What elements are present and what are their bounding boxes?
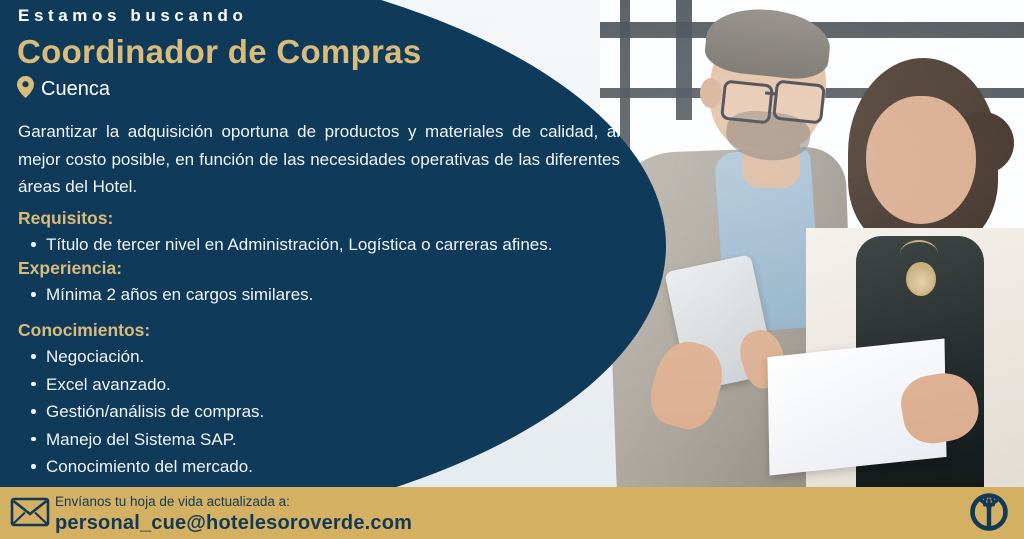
list-item: Negociación.: [44, 343, 618, 371]
kicker-text: Estamos buscando: [18, 6, 247, 26]
page-title: Coordinador de Compras: [17, 33, 421, 71]
contact-cta: Envíanos tu hoja de vida actualizada a:: [55, 493, 412, 511]
section-heading: Requisitos:: [18, 208, 618, 229]
job-posting-poster: Estamos buscando Coordinador de Compras …: [0, 0, 1024, 539]
experiencia-list: Mínima 2 años en cargos similares.: [18, 281, 618, 309]
conocimientos-list: Negociación. Excel avanzado. Gestión/aná…: [18, 343, 618, 481]
tree-emblem-logo: [966, 491, 1012, 539]
list-item: Manejo del Sistema SAP.: [44, 426, 618, 454]
location-row: Cuenca: [17, 76, 110, 103]
contact-email[interactable]: personal_cue@hotelesoroverde.com: [55, 511, 412, 536]
location-label: Cuenca: [41, 78, 110, 101]
envelope-icon: [10, 496, 50, 533]
section-requisitos: Requisitos: Título de tercer nivel en Ad…: [18, 208, 618, 259]
requisitos-list: Título de tercer nivel en Administración…: [18, 231, 618, 259]
job-description: Garantizar la adquisición oportuna de pr…: [18, 118, 620, 201]
poster-content: Estamos buscando Coordinador de Compras …: [0, 0, 640, 492]
list-item: Título de tercer nivel en Administración…: [44, 231, 618, 259]
list-item: Mínima 2 años en cargos similares.: [44, 281, 618, 309]
list-item: Conocimiento del mercado.: [44, 453, 618, 481]
section-conocimientos: Conocimientos: Negociación. Excel avanza…: [18, 320, 618, 481]
section-heading: Conocimientos:: [18, 320, 618, 341]
list-item: Gestión/análisis de compras.: [44, 398, 618, 426]
contact-text-block: Envíanos tu hoja de vida actualizada a: …: [55, 493, 412, 536]
map-pin-icon: [17, 76, 34, 103]
section-experiencia: Experiencia: Mínima 2 años en cargos sim…: [18, 258, 618, 309]
list-item: Excel avanzado.: [44, 371, 618, 399]
contact-footer: Envíanos tu hoja de vida actualizada a: …: [0, 487, 1024, 539]
section-heading: Experiencia:: [18, 258, 618, 279]
